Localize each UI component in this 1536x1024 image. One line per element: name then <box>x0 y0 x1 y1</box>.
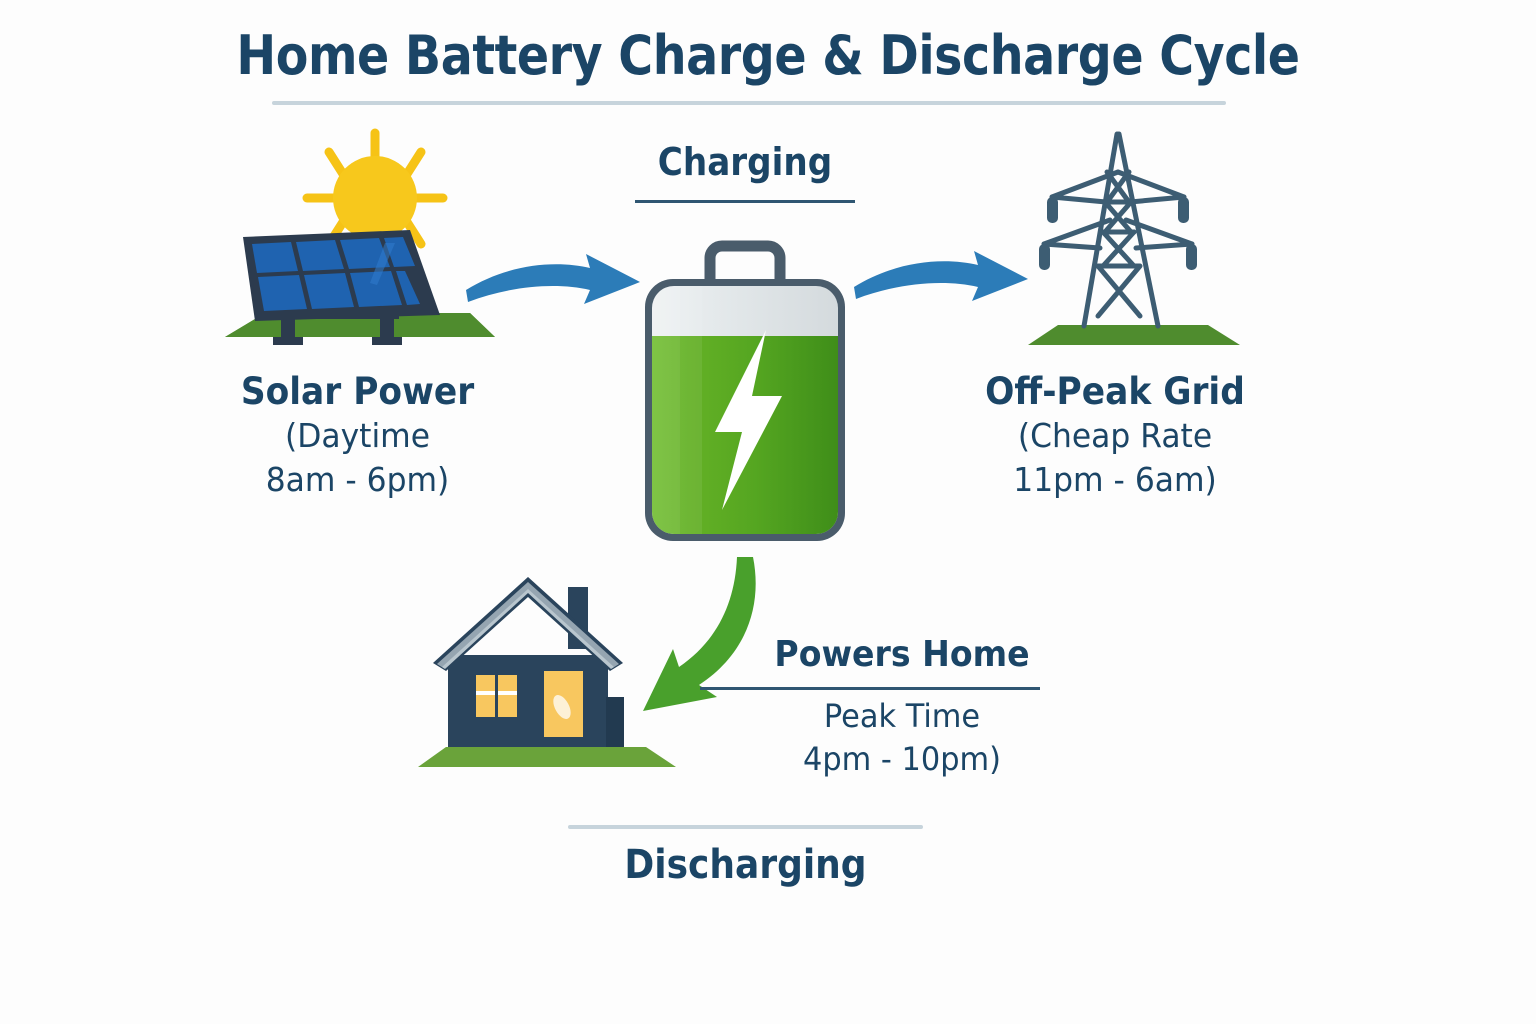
discharging-label: Discharging <box>586 842 906 888</box>
grid-caption: Off-Peak Grid (Cheap Rate 11pm - 6am) <box>965 370 1265 502</box>
charging-label: Charging <box>601 140 889 184</box>
charging-underline <box>635 200 855 203</box>
infographic-canvas: Home Battery Charge & Discharge Cycle Ch… <box>0 0 1536 1024</box>
solar-title: Solar Power <box>225 370 490 414</box>
grid-sub-2: 11pm - 6am) <box>973 458 1258 502</box>
battery-to-grid-arrow <box>848 245 1033 320</box>
solar-sub-1: (Daytime <box>222 414 493 458</box>
page-title: Home Battery Charge & Discharge Cycle <box>92 24 1444 87</box>
solar-caption: Solar Power (Daytime 8am - 6pm) <box>215 370 500 502</box>
powers-home-underline <box>700 687 1040 690</box>
grid-sub-1: (Cheap Rate <box>973 414 1258 458</box>
transmission-tower-icon <box>1018 120 1248 355</box>
peak-time-line-2: 4pm - 10pm) <box>750 740 1054 778</box>
solar-panel-with-sun-icon <box>225 125 495 360</box>
peak-time-line-1: Peak Time <box>750 697 1054 735</box>
solar-sub-2: 8am - 6pm) <box>222 458 493 502</box>
powers-home-label: Powers Home <box>755 634 1049 675</box>
battery-charging-icon <box>630 238 860 553</box>
title-divider <box>272 101 1226 105</box>
house-icon <box>418 555 680 780</box>
discharging-divider <box>568 825 923 829</box>
solar-to-battery-arrow <box>460 248 645 323</box>
grid-title: Off-Peak Grid <box>976 370 1255 414</box>
